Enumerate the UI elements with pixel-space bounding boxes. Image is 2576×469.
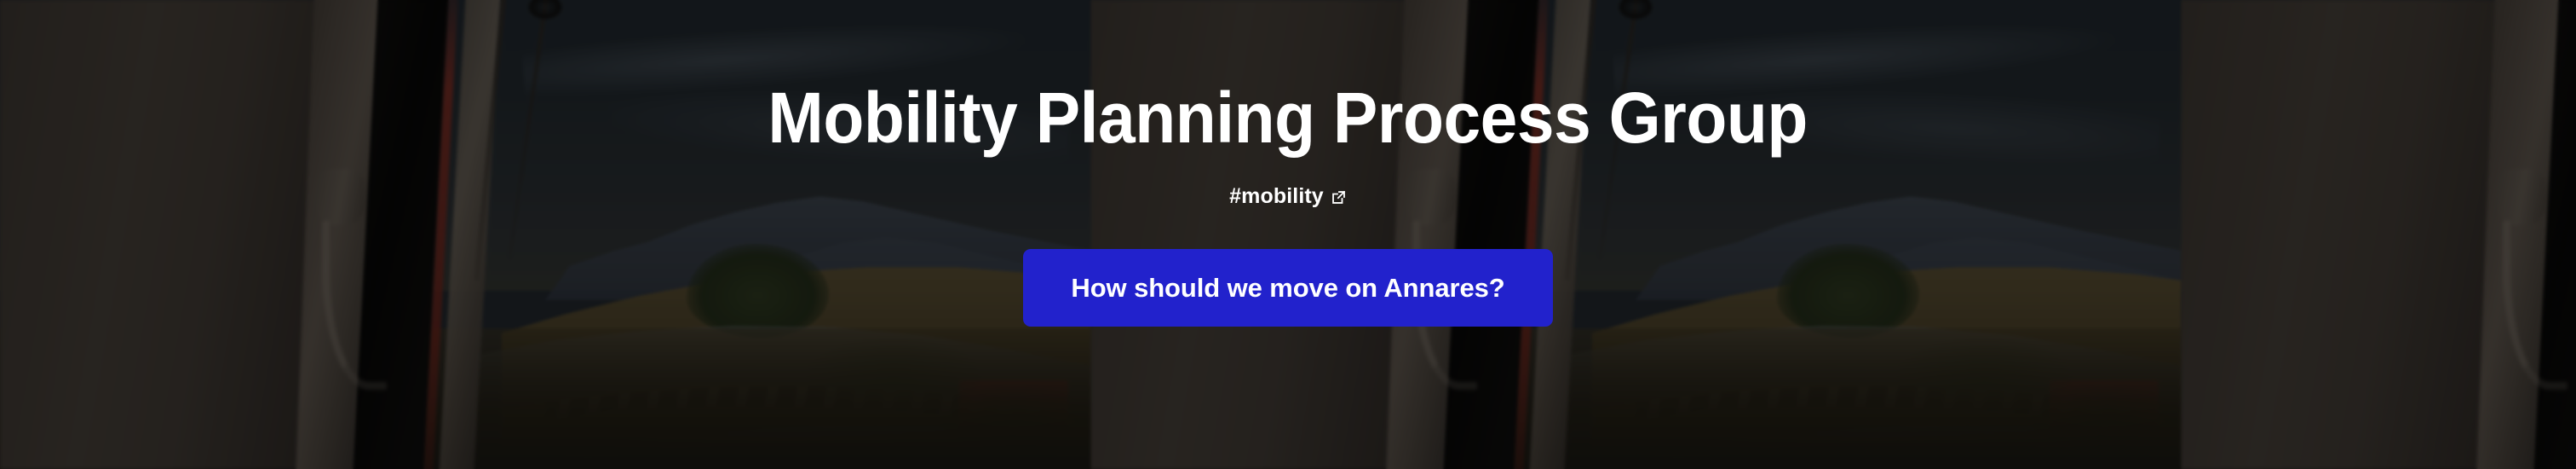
external-link-icon xyxy=(1331,189,1347,206)
hashtag-label: #mobility xyxy=(1229,184,1324,209)
page-title: Mobility Planning Process Group xyxy=(768,82,1808,153)
cta-button[interactable]: How should we move on Annares? xyxy=(1023,249,1553,327)
hashtag-link[interactable]: #mobility xyxy=(1229,184,1347,209)
hero-banner: Mobility Planning Process Group #mobilit… xyxy=(0,0,2576,469)
hero-content: Mobility Planning Process Group #mobilit… xyxy=(0,0,2576,327)
